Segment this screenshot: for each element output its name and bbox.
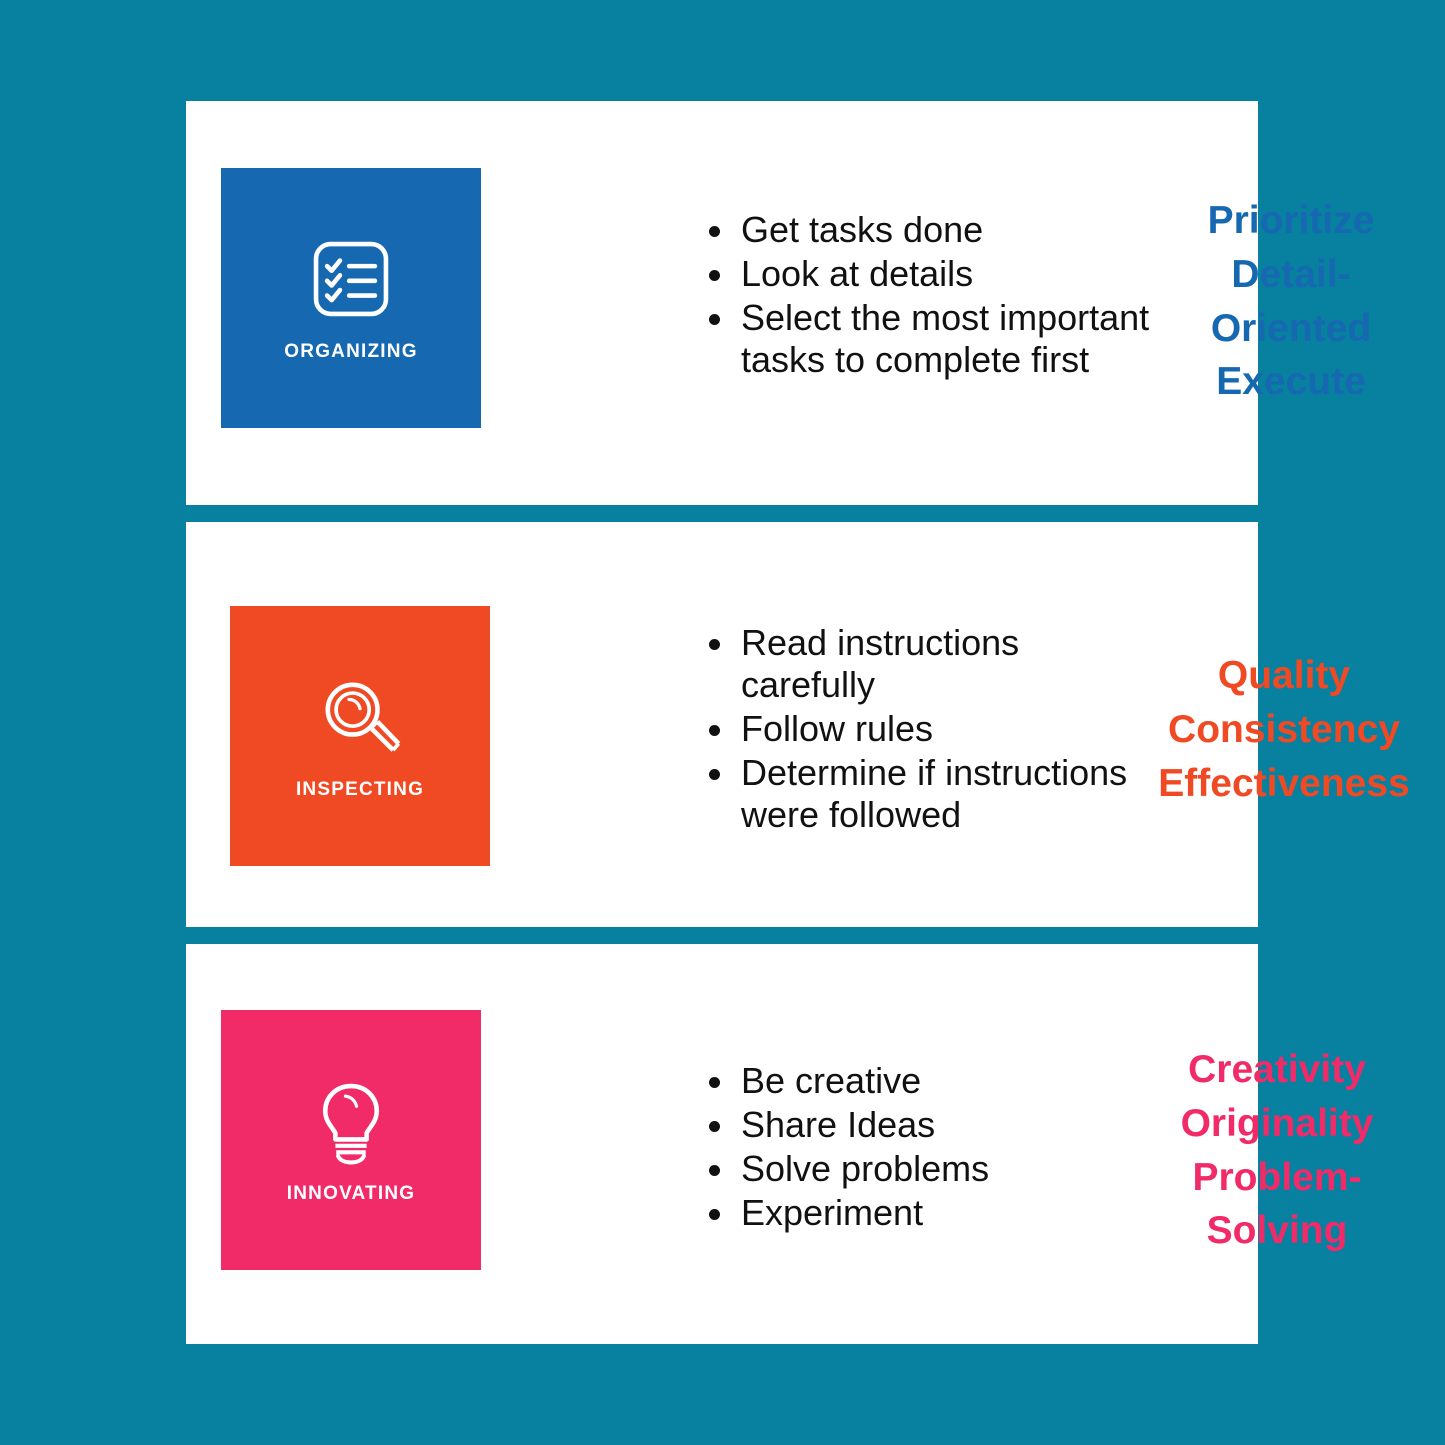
list-item: Follow rules — [703, 708, 1155, 750]
list-item: Look at details — [703, 253, 1173, 295]
lightbulb-icon — [305, 1075, 397, 1167]
keyword: Originality — [1141, 1097, 1413, 1151]
keyword-list-organizing: Prioritize Detail-Oriented Execute — [1186, 194, 1396, 409]
icon-tile-organizing: ORGANIZING — [221, 168, 481, 428]
list-item: Select the most important tasks to compl… — [703, 297, 1173, 381]
list-item: Experiment — [703, 1192, 1033, 1234]
checklist-icon — [305, 233, 397, 325]
bullet-list-organizing: Get tasks done Look at details Select th… — [703, 209, 1173, 383]
infographic-board: ORGANIZING Get tasks done Look at detail… — [186, 101, 1258, 1344]
card-organizing: ORGANIZING Get tasks done Look at detail… — [186, 101, 1258, 505]
list-item: Be creative — [703, 1060, 1033, 1102]
tile-label-organizing: ORGANIZING — [284, 341, 417, 363]
bullet-list-innovating: Be creative Share Ideas Solve problems E… — [703, 1060, 1033, 1236]
card-inspecting: INSPECTING Read instructions carefully F… — [186, 522, 1258, 927]
keyword: Creativity — [1141, 1043, 1413, 1097]
list-item: Determine if instructions were followed — [703, 752, 1155, 836]
keyword: Effectiveness — [1148, 757, 1420, 811]
card-innovating: INNOVATING Be creative Share Ideas Solve… — [186, 944, 1258, 1344]
icon-tile-innovating: INNOVATING — [221, 1010, 481, 1270]
list-item: Share Ideas — [703, 1104, 1033, 1146]
list-item: Solve problems — [703, 1148, 1033, 1190]
keyword-list-innovating: Creativity Originality Problem-Solving — [1141, 1043, 1413, 1258]
keyword: Quality — [1148, 649, 1420, 703]
magnifying-glass-icon — [314, 671, 406, 763]
list-item: Read instructions carefully — [703, 622, 1155, 706]
tile-label-inspecting: INSPECTING — [296, 779, 424, 801]
icon-tile-inspecting: INSPECTING — [230, 606, 490, 866]
keyword: Detail-Oriented — [1186, 248, 1396, 356]
bullet-list-inspecting: Read instructions carefully Follow rules… — [703, 622, 1155, 839]
tile-label-innovating: INNOVATING — [287, 1183, 415, 1205]
keyword: Execute — [1186, 355, 1396, 409]
keyword: Problem-Solving — [1141, 1151, 1413, 1259]
list-item: Get tasks done — [703, 209, 1173, 251]
keyword: Consistency — [1148, 703, 1420, 757]
keyword-list-inspecting: Quality Consistency Effectiveness — [1148, 649, 1420, 810]
keyword: Prioritize — [1186, 194, 1396, 248]
